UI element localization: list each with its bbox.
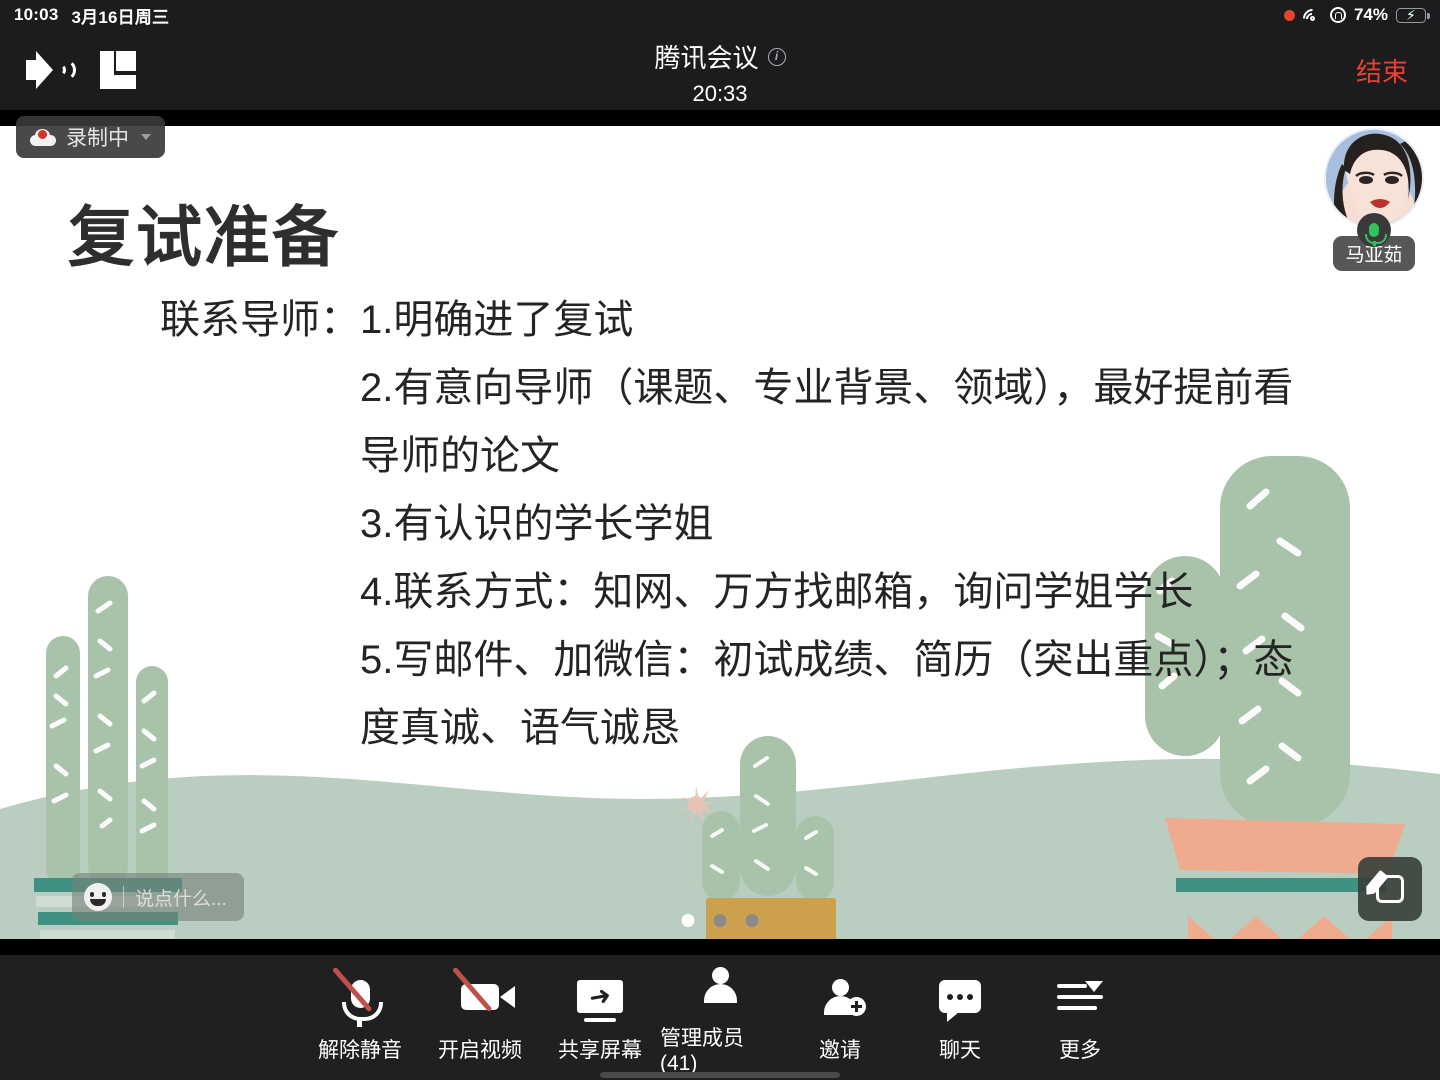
meeting-title: 腾讯会议 [654,38,758,75]
screen-share-icon: ➜ [568,972,632,1022]
slide-line: 度真诚、语气诚恳 [160,694,1360,762]
divider [123,886,124,908]
emoji-icon[interactable] [84,883,112,911]
meeting-duration: 20:33 [0,81,1440,107]
end-meeting-button[interactable]: 结束 [1356,30,1408,110]
slide-line: 联系导师：1.明确进了复试 [160,286,1360,354]
more-icon [1048,972,1112,1022]
toolbar-label: 邀请 [819,1034,861,1064]
toolbar-label: 更多 [1059,1034,1101,1064]
toolbar-item-unmute[interactable]: 解除静音 [300,972,420,1064]
toolbar-label: 解除静音 [318,1034,402,1064]
meeting-toolbar: 解除静音 开启视频 ➜ 共享屏幕 管理成员(41) 邀请 [0,955,1440,1080]
slide-line: 4.联系方式：知网、万方找邮箱，询问学姐学长 [160,558,1360,626]
toolbar-item-share-screen[interactable]: ➜ 共享屏幕 [540,972,660,1064]
toolbar-label: 管理成员(41) [660,1022,780,1076]
invite-icon [808,972,872,1022]
rotation-lock-icon [1330,7,1346,23]
toolbar-label: 共享屏幕 [558,1034,642,1064]
page-dot[interactable] [746,914,759,927]
status-time: 10:03 [14,5,58,25]
cloud-record-icon [30,129,56,146]
recording-badge[interactable]: 录制中 [16,116,165,158]
toolbar-item-more[interactable]: 更多 [1020,972,1140,1064]
toolbar-item-invite[interactable]: 邀请 [780,972,900,1064]
status-bar: 10:03 3月16日周三 74% ⚡ [0,0,1440,30]
meeting-screen: 10:03 3月16日周三 74% ⚡ 腾讯会议 i [0,0,1440,1080]
slide-line: 3.有认识的学长学姐 [160,490,1360,558]
slide-body: 联系导师：1.明确进了复试 2.有意向导师（课题、专业背景、领域），最好提前看 … [160,286,1360,762]
toolbar-item-start-video[interactable]: 开启视频 [420,972,540,1064]
slide-line: 2.有意向导师（课题、专业背景、领域），最好提前看 [160,354,1360,422]
wifi-icon [1303,8,1322,22]
mic-active-icon [1357,213,1391,247]
meeting-navbar: 腾讯会议 i 20:33 结束 [0,30,1440,110]
page-dot[interactable] [682,914,695,927]
meeting-title-row: 腾讯会议 i [654,38,785,75]
participants-icon [688,960,752,1010]
mic-muted-icon [328,972,392,1022]
annotate-pencil-icon[interactable] [1358,857,1422,921]
slide-line: 5.写邮件、加微信：初试成绩、简历（突出重点）；态 [160,626,1360,694]
chat-input-placeholder: 说点什么... [135,884,227,911]
page-dots[interactable] [682,914,759,927]
camera-off-icon [448,972,512,1022]
participant-thumbnail[interactable]: 马亚茹 [1320,128,1428,271]
battery-charging-icon: ⚡ [1396,8,1426,23]
home-indicator [600,1072,840,1078]
shared-slide[interactable]: 复试准备 联系导师：1.明确进了复试 2.有意向导师（课题、专业背景、领域），最… [0,126,1440,939]
shared-content-stage: 复试准备 联系导师：1.明确进了复试 2.有意向导师（课题、专业背景、领域），最… [0,110,1440,955]
toolbar-item-chat[interactable]: 聊天 [900,972,1020,1064]
toolbar-label: 开启视频 [438,1034,522,1064]
chevron-down-icon[interactable] [141,134,151,140]
info-icon[interactable]: i [768,48,786,66]
toolbar-label: 聊天 [939,1034,981,1064]
page-dot[interactable] [714,914,727,927]
status-date: 3月16日周三 [71,3,169,28]
navbar-center: 腾讯会议 i 20:33 [0,38,1440,107]
status-bar-left: 10:03 3月16日周三 [14,3,169,28]
toolbar-item-manage-participants[interactable]: 管理成员(41) [660,960,780,1076]
recording-label: 录制中 [66,122,129,152]
battery-percent-label: 74% [1354,5,1388,25]
slide-line: 导师的论文 [160,422,1360,490]
status-bar-right: 74% ⚡ [1284,5,1426,25]
record-dot-icon [1284,10,1295,21]
slide-title: 复试准备 [68,184,340,280]
chat-input-bar[interactable]: 说点什么... [72,873,244,921]
chat-icon [928,972,992,1022]
